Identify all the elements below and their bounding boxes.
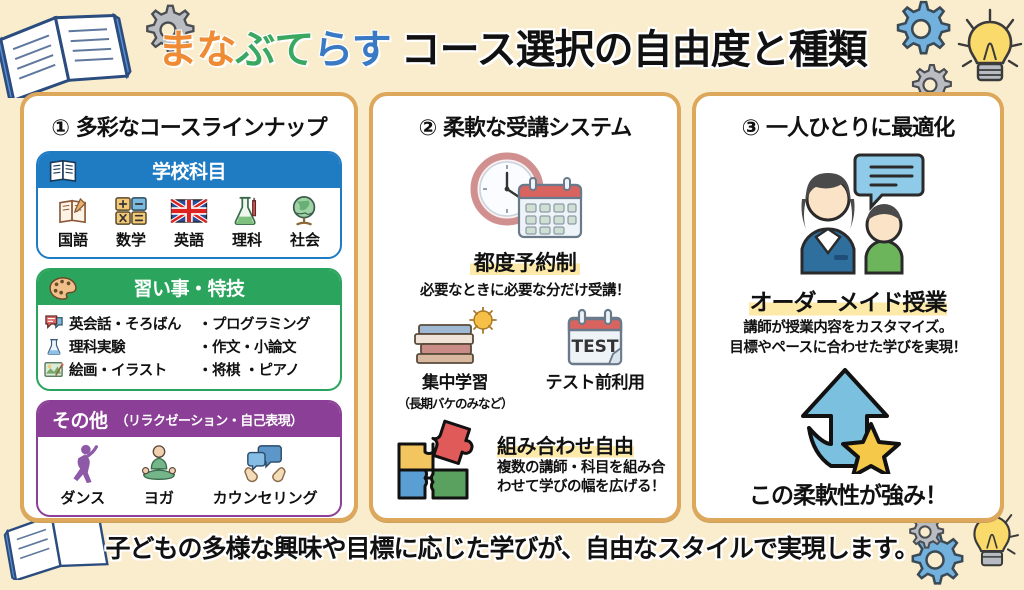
panel2-two-column: 集中学習 （長期バケのみなど） TEST テスト前 (385, 306, 665, 412)
combination-feature: 組み合わせ自由 複数の講師・科目を組み合 わせて学びの幅を広げる！ (385, 416, 665, 510)
painting-icon (44, 361, 64, 379)
test-calendar-text: TEST (571, 337, 618, 357)
skill-col1: 絵画・イラスト (69, 359, 193, 380)
other-item-label: ダンス (60, 487, 105, 508)
books-sun-icon (385, 306, 525, 368)
other-item[interactable]: ダンス (60, 443, 105, 508)
subject-label: 国語 (44, 229, 102, 250)
counseling-hands-icon (213, 443, 318, 485)
category-lessons-skills-header: 習い事・特技 (38, 270, 340, 305)
personalization-desc-line2: 目標やペースに合わせた学びを実現！ (708, 339, 988, 359)
other-item[interactable]: ヨガ (138, 443, 180, 508)
category-other: その他 （リラクゼーション・自己表現） (36, 400, 342, 517)
yoga-person-icon (138, 443, 180, 485)
pre-test-use-label: テスト前利用 (525, 368, 665, 393)
test-calendar-icon: TEST (525, 306, 665, 368)
infographic-canvas: まなぶてらす コース選択の自由度と種類 ① 多彩なコースラインナップ (0, 0, 1024, 572)
calculator-icon (102, 194, 160, 228)
combination-title: 組み合わせ自由 (497, 430, 634, 459)
category-lessons-skills: 習い事・特技 英会話・そろばん ・プログラミング (36, 268, 342, 391)
combination-desc-line2: わせて学びの幅を広げる！ (497, 478, 665, 496)
pre-test-use-item[interactable]: TEST テスト前利用 (525, 306, 665, 393)
clock-calendar-icon (385, 151, 665, 243)
brand-char-0: ま (157, 27, 196, 73)
combination-text: 組み合わせ自由 複数の講師・科目を組み合 わせて学びの幅を広げる！ (497, 430, 665, 495)
subject-label: 社会 (276, 229, 334, 250)
panel3-content: オーダーメイド授業 講師が授業内容をカスタマイズ。 目標やペースに合わせた学びを… (708, 151, 988, 510)
intensive-study-item[interactable]: 集中学習 （長期バケのみなど） (385, 306, 525, 412)
teacher-student-icon (708, 151, 988, 277)
panels-container: ① 多彩なコースラインナップ 学校科目 (0, 92, 1024, 522)
personalization-desc-line1: 講師が授業内容をカスタマイズ。 (708, 319, 988, 339)
dancing-person-icon (60, 443, 105, 485)
brand-char-4: ら (313, 27, 351, 73)
panel-personalization: ③ 一人ひとりに最適化 (692, 92, 1004, 522)
panel1-title: ① 多彩なコースラインナップ (36, 110, 342, 142)
subject-item[interactable]: 国語 (44, 194, 102, 250)
flask-icon (218, 194, 276, 228)
speech-bubble-icon (44, 315, 64, 333)
skill-col2: ・作文・小論文 (198, 336, 296, 357)
subject-label: 英語 (160, 229, 218, 250)
category-school-subjects-name: 学校科目 (152, 161, 226, 183)
book-icon (44, 194, 102, 228)
intensive-study-label: 集中学習 (385, 368, 525, 393)
brand-char-3: て (274, 27, 313, 73)
skill-col1: 理科実験 (69, 336, 193, 357)
category-other-note: （リラクゼーション・自己表現） (116, 410, 303, 429)
brand-char-2: ぶ (235, 27, 274, 73)
panel-flexible-system: ② 柔軟な受講システム (369, 92, 681, 522)
brand-char-1: な (196, 27, 235, 73)
skill-row[interactable]: 理科実験 ・作文・小論文 (44, 336, 334, 357)
puzzle-pieces-icon (385, 416, 491, 510)
feature-reservation: 都度予約制 必要なときに必要な分だけ受講！ (385, 151, 665, 300)
uk-flag-icon (160, 194, 218, 228)
page-title: コース選択の自由度と種類 (401, 17, 867, 75)
panel-course-lineup: ① 多彩なコースラインナップ 学校科目 (20, 92, 358, 522)
header: まなぶてらす コース選択の自由度と種類 (0, 0, 1024, 92)
subject-item[interactable]: 数学 (102, 194, 160, 250)
rising-arrow-star-icon (708, 366, 988, 474)
other-item[interactable]: カウンセリング (213, 443, 318, 508)
skill-col2: ・将棋 ・ピアノ (198, 359, 299, 380)
subject-label: 理科 (218, 229, 276, 250)
brand-char-5: す (352, 27, 391, 73)
skill-row[interactable]: 絵画・イラスト ・将棋 ・ピアノ (44, 359, 334, 380)
category-school-subjects: 学校科目 (36, 151, 342, 259)
other-item-label: ヨガ (138, 487, 180, 508)
footer-text: 子どもの多様な興味や目標に応じた学びが、自由なスタイルで実現します。 (105, 529, 918, 565)
category-school-subjects-body: 国語 (38, 188, 340, 257)
category-lessons-skills-name: 習い事・特技 (133, 278, 244, 300)
panel2-title: ② 柔軟な受講システム (385, 110, 665, 142)
subject-item[interactable]: 英語 (160, 194, 218, 250)
skill-col2: ・プログラミング (198, 313, 310, 334)
skill-row[interactable]: 英会話・そろばん ・プログラミング (44, 313, 334, 334)
feature-reservation-subtitle: 必要なときに必要な分だけ受講！ (385, 279, 665, 300)
open-book-icon (48, 159, 78, 182)
footer: 子どもの多様な興味や目標に応じた学びが、自由なスタイルで実現します。 (0, 522, 1024, 572)
subject-label: 数学 (102, 229, 160, 250)
category-school-subjects-header: 学校科目 (38, 153, 340, 188)
panel3-title: ③ 一人ひとりに最適化 (708, 110, 988, 142)
category-other-body: ダンス (38, 437, 340, 515)
category-other-name: その他 (52, 406, 108, 433)
combination-desc-line1: 複数の講師・科目を組み合 (497, 459, 665, 477)
category-lessons-skills-body: 英会話・そろばん ・プログラミング 理科実験 ・作文・小論文 (38, 305, 340, 389)
category-other-header: その他 （リラクゼーション・自己表現） (38, 402, 340, 437)
personalization-title: オーダーメイド授業 (749, 283, 946, 317)
skill-col1: 英会話・そろばん (69, 313, 193, 334)
brand-logo-text: まなぶてらす (157, 17, 390, 75)
subject-item[interactable]: 理科 (218, 194, 276, 250)
palette-icon (48, 276, 78, 300)
feature-reservation-title: 都度予約制 (470, 247, 581, 277)
flask-icon (44, 338, 64, 356)
other-item-label: カウンセリング (213, 487, 318, 508)
personalization-strong-text: この柔軟性が強み！ (708, 476, 988, 510)
subject-item[interactable]: 社会 (276, 194, 334, 250)
globe-icon (276, 194, 334, 228)
intensive-study-note: （長期バケのみなど） (385, 393, 525, 412)
